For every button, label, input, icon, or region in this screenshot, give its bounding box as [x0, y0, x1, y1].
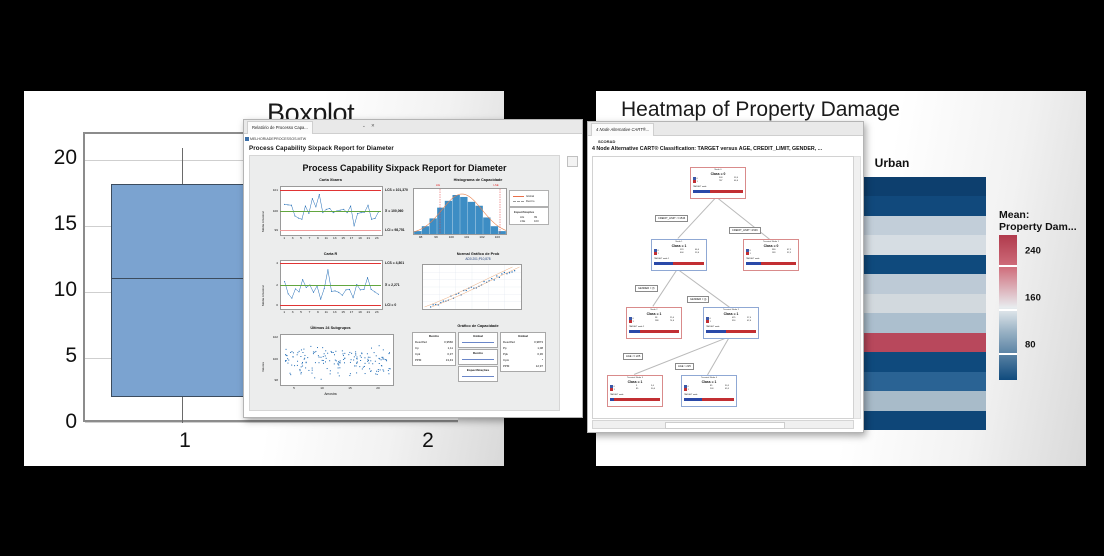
node-class: Class = 1	[627, 312, 681, 316]
rchart-lci-line	[280, 305, 381, 306]
histogram-plot-area	[413, 188, 507, 235]
rchart-ytick-2: 2	[264, 283, 278, 287]
dentro-k-0: DesvPad	[415, 340, 427, 344]
axis-tick: 23	[375, 236, 378, 240]
panel-grafico-capacidade: Gráfico de Capacidade Dentro DesvPad 0,9…	[408, 324, 548, 398]
legend-tick-80: 80	[1025, 340, 1036, 351]
xbar-center-line	[280, 211, 381, 212]
y-tick-0: 0	[32, 410, 77, 434]
marker-line-dentro	[462, 359, 494, 360]
global-v-3: *	[542, 358, 543, 362]
worksheet-icon	[245, 137, 249, 141]
axis-tick: 11	[325, 310, 328, 314]
node-bar-label: TARGET node	[693, 186, 706, 188]
node-class: Class = 0	[691, 172, 745, 176]
axis-tick: 15	[341, 236, 344, 240]
panel-ultimos-subgrupos: Últimos 24 Subgrupos Valores 102 100 98 …	[258, 326, 403, 398]
cart-split-label: AGE > 225	[675, 363, 694, 370]
subgroups-xlabel: Amostra	[258, 392, 403, 396]
subgroups-plot-area	[280, 334, 394, 386]
node-title: Terminal Node 4	[682, 377, 736, 379]
node-class-key: 1	[658, 253, 659, 255]
axis-tick: 7	[309, 236, 311, 240]
legend-title-line1: Mean:	[999, 209, 1085, 221]
subgroups-ytick-98: 98	[263, 378, 278, 382]
global-v-4: 12,97	[536, 364, 543, 368]
node-class-key: 1	[750, 253, 751, 255]
axis-tick: 15	[348, 386, 351, 390]
node-class-pct: 90,4	[651, 388, 655, 390]
xbar-lcs-line	[280, 190, 381, 191]
cart-scroll-thumb[interactable]	[665, 422, 785, 429]
node-class-key: 1	[633, 321, 634, 323]
axis-tick: 5	[300, 310, 302, 314]
global-v-1: 1,08	[537, 346, 543, 350]
node-class-pct: 69,5	[725, 388, 729, 390]
cart-node[interactable]: Node 1Class = 1052346,4160453,6TARGET no…	[651, 239, 707, 271]
node-distribution-bar	[706, 330, 756, 333]
cart-tree-canvas: Node 0Class = 0090353,4178746,6TARGET no…	[592, 156, 854, 419]
xbar-title: Carta Xbarra	[258, 178, 403, 182]
node-title: Terminal Node 2	[704, 309, 758, 311]
axis-tick: 5	[300, 236, 302, 240]
probplot-plot-area	[422, 264, 522, 310]
legend-row-global: Global	[526, 194, 534, 198]
spec-lse-value: 100	[534, 219, 539, 223]
axis-tick: 19	[358, 236, 361, 240]
node-class-pct: 53,4	[734, 177, 738, 179]
global-box-header: Global	[501, 334, 545, 338]
rchart-center-line	[280, 285, 381, 286]
bar-segment-blue	[654, 262, 673, 265]
legend-row-dentro: Dentro	[526, 199, 534, 203]
cart-horizontal-scrollbar[interactable]	[592, 420, 854, 429]
capability-dentro-marker-box: Dentro	[458, 349, 498, 365]
cart-split-label: CREDIT_LIMIT >1546	[729, 227, 761, 234]
node-bar-label: TARGET node	[706, 326, 719, 328]
graph-options-button[interactable]	[567, 156, 578, 167]
dentro-v-1: 1,11	[448, 346, 453, 350]
node-title: Terminal Node 1	[744, 241, 798, 243]
axis-tick: 15	[341, 310, 344, 314]
cart-node[interactable]: Node 2Class = 109825,4128874,6TARGET nod…	[626, 307, 682, 339]
node-class-pct: 42,6	[747, 320, 751, 322]
axis-tick: 21	[367, 236, 370, 240]
legend-title-line2: Property Dam...	[999, 221, 1085, 233]
node-distribution-bar	[684, 398, 734, 401]
chevron-down-icon[interactable]: ⌄	[362, 123, 366, 129]
node-class-pct: 74,6	[670, 320, 674, 322]
axis-tick: 5	[293, 386, 295, 390]
cart-body: SCORAD 4 Node Alternative CART® Classifi…	[588, 136, 863, 432]
cart-node[interactable]: Terminal Node 3Class = 1099,618590,4TARG…	[607, 375, 663, 407]
bar-segment-blue	[693, 190, 710, 193]
global-k-2: Ppk	[503, 352, 508, 356]
node-class: Class = 1	[608, 380, 662, 384]
plot-series	[423, 265, 521, 309]
axis-tick: 98	[419, 235, 422, 239]
node-class-key: 1	[688, 389, 689, 391]
panel-histograma: Histograma de Capacidade LIE LSE 9899100…	[408, 178, 548, 248]
global-k-1: Pp	[503, 346, 507, 350]
xbar-ytick-100: 100	[264, 209, 278, 213]
bar-segment-red	[640, 330, 679, 333]
node-class: Class = 0	[744, 244, 798, 248]
panel-carta-xbarra: Carta Xbarra Média Amostral 101 100 99 L…	[258, 178, 403, 246]
box-q1-q3	[111, 184, 254, 397]
worksheet-name: MELHORIADEPROCESSOS.MTW	[250, 137, 306, 141]
legend-tick-240: 240	[1025, 246, 1041, 257]
capability-espec-marker-box: Especificações	[458, 366, 498, 382]
axis-tick: 17	[350, 236, 353, 240]
rchart-title: Carta R	[258, 252, 403, 256]
legend-colorbar	[999, 235, 1017, 380]
axis-tick: 10	[320, 386, 323, 390]
cart-split-label: CREDIT_LIMIT <=1546	[655, 215, 688, 222]
rchart-ytick-4: 4	[264, 261, 278, 265]
histogram-lie-mark: LIE	[436, 183, 440, 187]
subgroups-title: Últimos 24 Subgrupos	[258, 326, 403, 330]
x-tick-1: 1	[179, 429, 191, 453]
node-class-pct: 30,5	[725, 385, 729, 387]
global-k-4: PPM	[503, 364, 509, 368]
legend-swatch-dentro	[513, 201, 524, 202]
sixpack-report-window[interactable]: Relatório de Processo Capa... ⌄ ✕ MELHOR…	[243, 119, 583, 418]
spec-box-title: Especificações	[514, 210, 534, 214]
node-class-pct: 46,4	[695, 249, 699, 251]
node-class-count: 604	[680, 252, 683, 254]
histogram-lse-mark: LSE	[493, 183, 498, 187]
axis-tick: 11	[325, 236, 328, 240]
legend-swatch-global	[513, 196, 524, 197]
node-class-count: 89	[710, 385, 712, 387]
axis-tick: 1	[283, 236, 285, 240]
node-class-key: 1	[710, 321, 711, 323]
cart-split-label: GENDER = (f)	[635, 285, 658, 292]
histogram-spec-box: Especificações LIE 99 LSE 100	[509, 207, 549, 225]
node-class-pct: 67,5	[787, 249, 791, 251]
axis-tick: 19	[358, 310, 361, 314]
xbar-lcs-label: LCS = 101,370	[385, 188, 408, 192]
axis-tick: 99	[434, 235, 437, 239]
cart-heading: 4 Node Alternative CART® Classification:…	[592, 146, 822, 152]
legend-tickmark-80	[999, 353, 1017, 355]
node-distribution-bar	[746, 262, 796, 265]
cart-node[interactable]: Terminal Node 1Class = 0038067,5118332,5…	[743, 239, 799, 271]
node-class-count: 380	[772, 249, 775, 251]
dentro-v-2: 0,37	[447, 352, 453, 356]
cart-node[interactable]: Node 0Class = 0090353,4178746,6TARGET no…	[690, 167, 746, 199]
plot-series	[281, 335, 393, 385]
cart-split-label: GENDER = (j)	[687, 296, 709, 303]
node-class-count: 903	[719, 177, 722, 179]
marker-box-espec-header: Especificações	[459, 368, 497, 372]
capability-global-marker-box: Global	[458, 332, 498, 348]
heatmap-column-label-urban: Urban	[875, 156, 910, 170]
axis-tick: 1	[283, 310, 285, 314]
probplot-subtitle: AD0.201;P10,878	[408, 257, 548, 261]
node-class-key: 1	[697, 181, 698, 183]
node-class: Class = 1	[704, 312, 758, 316]
marker-box-dentro-header: Dentro	[459, 351, 497, 355]
global-v-2: 0,36	[537, 352, 543, 356]
bar-segment-red	[761, 262, 796, 265]
node-distribution-bar	[693, 190, 743, 193]
cart-tabbar: 4 Node Alternative CART®...	[588, 122, 863, 136]
node-class-count: 183	[772, 252, 775, 254]
node-class-pct: 46,6	[734, 180, 738, 182]
tree-edge	[707, 337, 730, 375]
node-bar-label: TARGET node	[610, 394, 623, 396]
dentro-v-0: 0,9566	[444, 340, 453, 344]
bar-segment-blue	[629, 330, 640, 333]
axis-tick: 100	[449, 235, 454, 239]
marker-line-global	[462, 342, 494, 343]
bar-segment-red	[726, 330, 756, 333]
bar-segment-blue	[746, 262, 761, 265]
node-class-key: 1	[614, 389, 615, 391]
rchart-lcs-line	[280, 263, 381, 264]
node-distribution-bar	[610, 398, 660, 401]
axis-tick: 21	[367, 310, 370, 314]
capability-global-box: Global DesvPad 0,9873 Pp 1,08 Ppk 0,36 C…	[500, 332, 546, 372]
node-class-count: 203	[710, 388, 713, 390]
node-class-count: 425	[732, 317, 735, 319]
node-title: Node 0	[691, 169, 745, 171]
heatmap-legend: Mean: Property Dam... 240 160 80	[999, 209, 1085, 399]
sixpack-heading: Process Capability Sixpack Report for Di…	[249, 145, 394, 152]
axis-tick: 3	[292, 310, 294, 314]
node-class-count: 523	[680, 249, 683, 251]
bar-segment-red	[710, 190, 744, 193]
axis-tick: 9	[317, 310, 319, 314]
tab-relatorio-processo[interactable]: Relatório de Processo Capa...	[247, 121, 313, 134]
dentro-box-header: Dentro	[413, 334, 455, 338]
median-line	[111, 278, 254, 279]
rchart-lci-label: LCI = 0	[385, 303, 396, 307]
axis-tick: 9	[317, 236, 319, 240]
capability-dentro-box: Dentro DesvPad 0,9566 Cp 1,11 Cpk 0,37 P…	[412, 332, 456, 366]
dentro-k-1: Cp	[415, 346, 419, 350]
rchart-ytick-0: 0	[264, 303, 278, 307]
bar-segment-red	[614, 398, 660, 401]
rchart-center-label: X̅ = 2,271	[385, 283, 400, 287]
xbar-ytick-99: 99	[264, 228, 278, 232]
marker-line-espec	[462, 376, 494, 377]
dentro-k-2: Cpk	[415, 352, 420, 356]
xbar-lci-line	[280, 230, 381, 231]
node-title: Node 2	[627, 309, 681, 311]
global-k-0: DesvPad	[503, 340, 515, 344]
x-tick-2: 2	[422, 429, 434, 453]
node-class-pct: 25,4	[670, 317, 674, 319]
cart-vertical-scrollbar[interactable]	[853, 156, 861, 419]
cart-subheading: SCORAD	[598, 139, 615, 144]
dentro-v-3: 13,43	[446, 358, 453, 362]
subgroups-ylabel: Valores	[261, 362, 265, 372]
sixpack-graph-canvas: Process Capability Sixpack Report for Di…	[249, 155, 560, 411]
legend-tickmark-160	[999, 309, 1017, 311]
bar-segment-red	[673, 262, 704, 265]
bar-segment-red	[702, 398, 735, 401]
node-class: Class = 1	[652, 244, 706, 248]
dentro-k-3: PPM	[415, 358, 421, 362]
node-title: Terminal Node 3	[608, 377, 662, 379]
marker-box-global-header: Global	[459, 334, 497, 338]
node-bar-label: TARGET node 1	[654, 258, 669, 260]
node-class-pct: 57,4	[747, 317, 751, 319]
global-k-3: Cpm	[503, 358, 509, 362]
cart-split-label: AGE <= 225	[623, 353, 643, 360]
node-class-pct: 53,6	[695, 252, 699, 254]
node-class-count: 288	[655, 320, 658, 322]
screenshot-stage: Boxplot 20 15 10 5 0 1 2 Heatmap of Prop…	[0, 0, 1104, 556]
node-class-count: 98	[655, 317, 657, 319]
axis-tick: 20	[376, 386, 379, 390]
histogram-legend: Global Dentro	[509, 190, 549, 207]
xbar-lci-label: LCI = 98,751	[385, 228, 405, 232]
panel-normal-prob: Normal Gráfico de Prob AD0.201;P10,878	[408, 252, 548, 322]
node-distribution-bar	[654, 262, 704, 265]
node-title: Node 1	[652, 241, 706, 243]
node-class-count: 9	[636, 385, 637, 387]
sixpack-body: MELHORIADEPROCESSOS.MTW Process Capabili…	[244, 134, 582, 417]
node-bar-label: TARGET node	[684, 394, 697, 396]
axis-tick: 17	[350, 310, 353, 314]
axis-tick: 102	[479, 235, 484, 239]
axis-tick: 23	[375, 310, 378, 314]
node-bar-label: TARGET node	[746, 258, 759, 260]
subgroups-ytick-102: 102	[263, 335, 278, 339]
node-class-pct: 32,5	[787, 252, 791, 254]
legend-tick-160: 160	[1025, 293, 1041, 304]
axis-tick: 101	[464, 235, 469, 239]
whisker-upper	[182, 148, 183, 184]
axis-tick: 3	[292, 236, 294, 240]
close-icon[interactable]: ✕	[371, 123, 375, 129]
tab-cart-alternative[interactable]: 4 Node Alternative CART®...	[591, 123, 654, 136]
xbar-center-label: X̅ = 100,060	[385, 209, 403, 213]
xbar-ytick-101: 101	[264, 188, 278, 192]
axis-tick: 13	[333, 310, 336, 314]
y-tick-15: 15	[32, 212, 77, 236]
subgroups-ytick-100: 100	[263, 357, 278, 361]
bar-segment-blue	[684, 398, 702, 401]
heatmap-title: Heatmap of Property Damage	[621, 98, 900, 122]
node-class-count: 787	[719, 180, 722, 182]
bar-segment-blue	[706, 330, 726, 333]
whisker-lower	[182, 397, 183, 423]
capability-title: Gráfico de Capacidade	[408, 324, 548, 328]
global-v-0: 0,9873	[534, 340, 543, 344]
legend-tickmark-240	[999, 265, 1017, 267]
axis-tick: 103	[495, 235, 500, 239]
gridline-0	[85, 422, 458, 423]
node-bar-label: TARGET node 2	[629, 326, 644, 328]
plot-series	[414, 189, 506, 234]
node-distribution-bar	[629, 330, 679, 333]
node-class-pct: 9,6	[651, 385, 654, 387]
y-tick-10: 10	[32, 278, 77, 302]
sixpack-tabbar: Relatório de Processo Capa... ⌄ ✕	[244, 120, 582, 134]
axis-tick: 7	[309, 310, 311, 314]
histogram-title: Histograma de Capacidade	[408, 178, 548, 182]
spec-lse-key: LSE	[520, 219, 525, 223]
node-class-count: 316	[732, 320, 735, 322]
node-class-count: 85	[636, 388, 638, 390]
cart-node[interactable]: Terminal Node 2Class = 1042557,4131642,6…	[703, 307, 759, 339]
y-tick-5: 5	[32, 344, 77, 368]
axis-tick: 13	[333, 236, 336, 240]
boxplot-y-axis: 20 15 10 5 0	[24, 132, 77, 422]
node-class: Class = 1	[682, 380, 736, 384]
rchart-lcs-label: LCS = 4,801	[385, 261, 404, 265]
y-tick-20: 20	[32, 146, 77, 170]
cart-classification-window[interactable]: 4 Node Alternative CART®... SCORAD 4 Nod…	[587, 121, 864, 433]
probplot-title: Normal Gráfico de Prob	[408, 252, 548, 256]
sixpack-report-title: Process Capability Sixpack Report for Di…	[250, 163, 559, 173]
cart-node[interactable]: Terminal Node 4Class = 108930,5120369,5T…	[681, 375, 737, 407]
panel-carta-r: Carta R Média Amostral 4 2 0 LCS = 4,801…	[258, 252, 403, 320]
